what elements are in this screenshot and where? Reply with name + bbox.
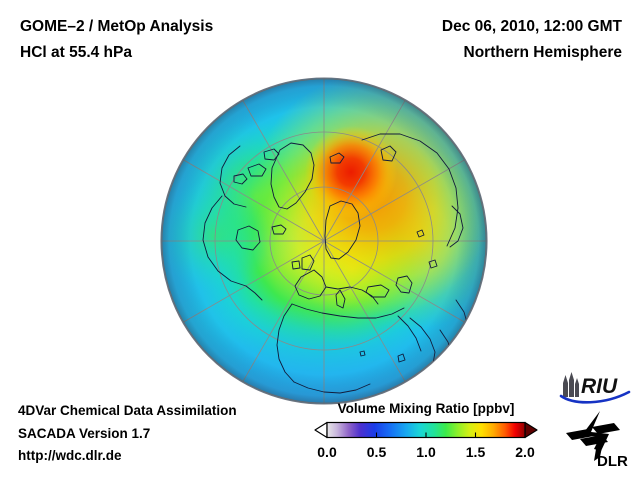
colorbar-tick-label: 1.0	[416, 444, 435, 460]
colorbar-svg	[312, 419, 540, 441]
colorbar-cap-low	[315, 423, 327, 438]
riu-spires-icon	[563, 372, 579, 397]
footer-left: 4DVar Chemical Data Assimilation SACADA …	[18, 400, 237, 468]
dlr-logo-svg: DLR	[564, 409, 634, 471]
colorbar-tick-labels: 0.00.51.01.52.0	[304, 444, 548, 464]
colorbar-tick-label: 0.5	[367, 444, 386, 460]
colorbar-cap-high	[525, 423, 537, 438]
riu-wordmark: RIU	[581, 375, 618, 398]
colorbar-title: Volume Mixing Ratio [ppbv]	[316, 401, 536, 416]
colorbar-tick-label: 1.5	[466, 444, 485, 460]
method-label: 4DVar Chemical Data Assimilation	[18, 400, 237, 423]
colorbar	[312, 419, 540, 441]
version-label: SACADA Version 1.7	[18, 423, 237, 446]
dlr-logo: DLR	[564, 409, 634, 471]
dlr-wordmark: DLR	[597, 453, 628, 470]
url-label[interactable]: http://wdc.dlr.de	[18, 445, 237, 468]
globe-limb-shading	[161, 78, 487, 404]
riu-logo: RIU	[558, 371, 632, 405]
colorbar-tick-label: 2.0	[515, 444, 534, 460]
colorbar-tick-label: 0.0	[317, 444, 336, 460]
riu-logo-svg: RIU	[558, 371, 632, 405]
